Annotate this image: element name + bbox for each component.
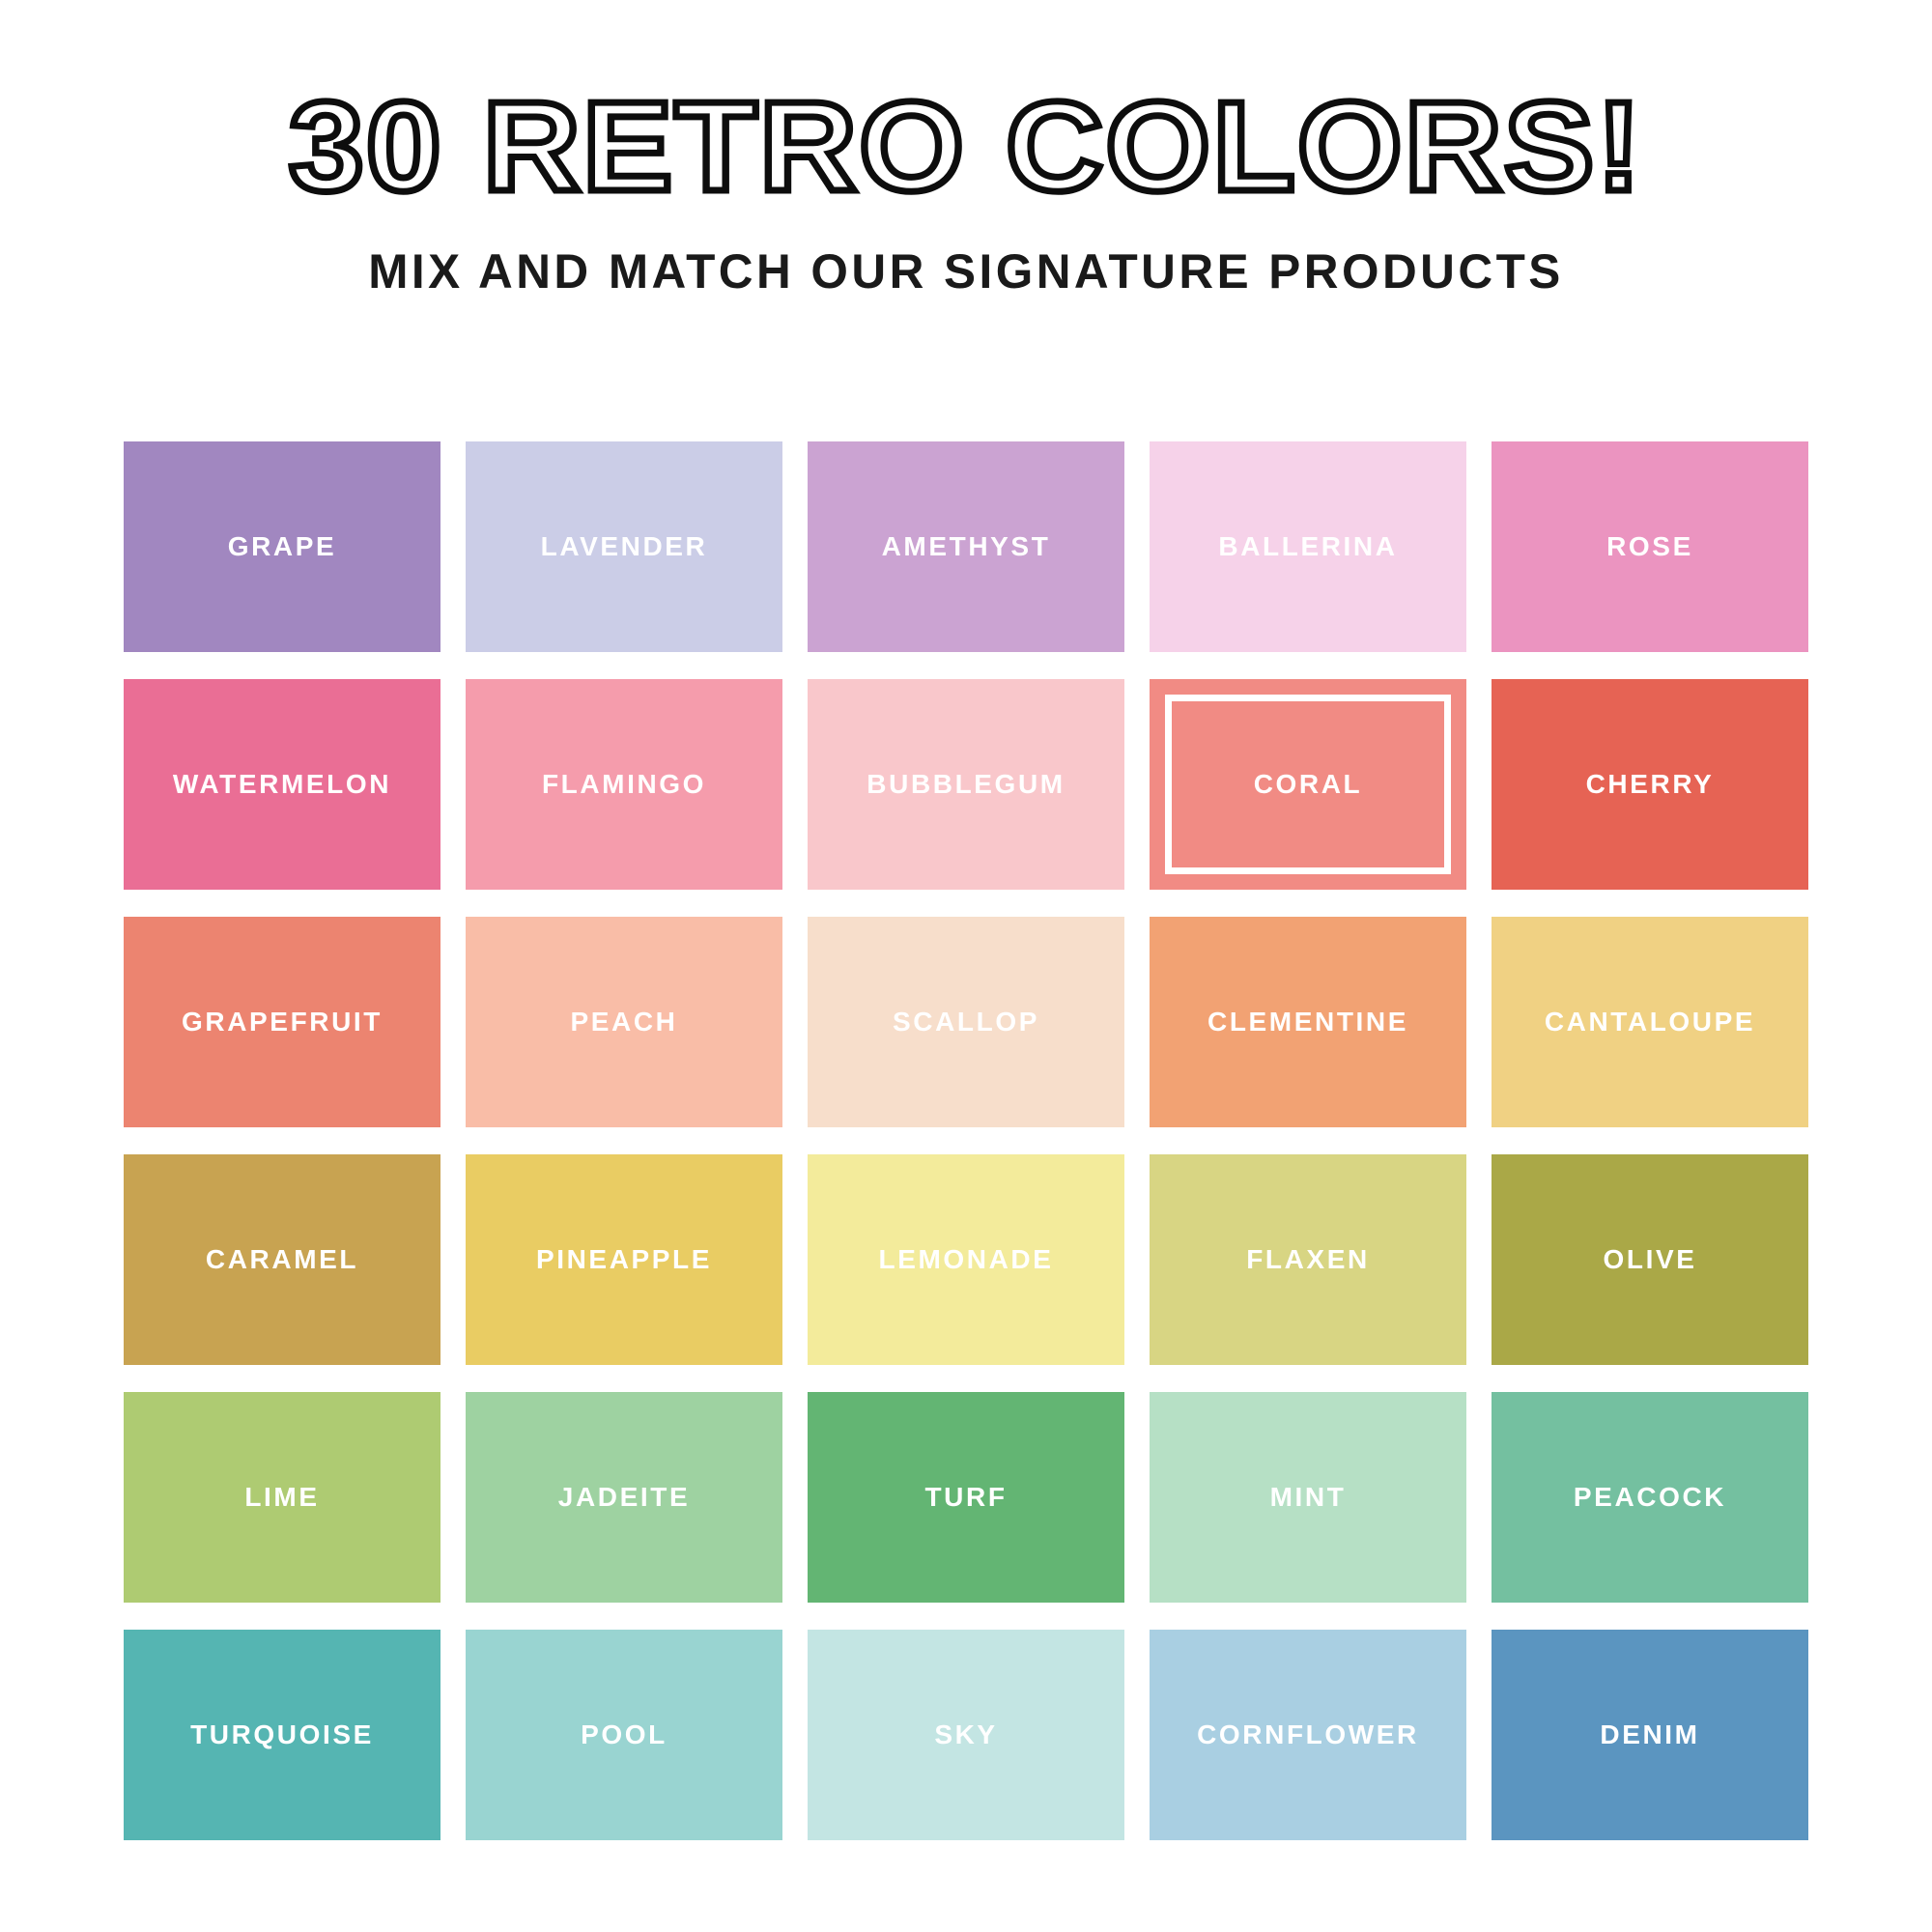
color-swatch-label: JADEITE <box>558 1482 690 1513</box>
color-swatch-grapefruit[interactable]: GRAPEFRUIT <box>124 917 440 1127</box>
color-swatch-label: DENIM <box>1600 1719 1699 1750</box>
color-swatch-label: SCALLOP <box>893 1007 1039 1037</box>
color-swatch-label: FLAMINGO <box>542 769 706 800</box>
color-swatch-peach[interactable]: PEACH <box>466 917 782 1127</box>
color-swatch-scallop[interactable]: SCALLOP <box>808 917 1124 1127</box>
color-swatch-label: GRAPE <box>228 531 337 562</box>
color-swatch-turf[interactable]: TURF <box>808 1392 1124 1603</box>
color-swatch-label: CORAL <box>1254 769 1363 800</box>
color-swatch-grape[interactable]: GRAPE <box>124 441 440 652</box>
color-swatch-watermelon[interactable]: WATERMELON <box>124 679 440 890</box>
color-swatch-label: BALLERINA <box>1218 531 1397 562</box>
color-swatch-label: LEMONADE <box>878 1244 1053 1275</box>
color-swatch-label: CORNFLOWER <box>1197 1719 1419 1750</box>
color-swatch-peacock[interactable]: PEACOCK <box>1492 1392 1808 1603</box>
page-header: 30 RETRO COLORS! MIX AND MATCH OUR SIGNA… <box>0 0 1932 299</box>
color-swatch-coral[interactable]: CORAL <box>1150 679 1466 890</box>
color-swatch-turquoise[interactable]: TURQUOISE <box>124 1630 440 1840</box>
color-swatch-label: AMETHYST <box>882 531 1051 562</box>
color-swatch-label: ROSE <box>1606 531 1693 562</box>
color-swatch-label: CHERRY <box>1586 769 1715 800</box>
color-swatch-label: POOL <box>581 1719 668 1750</box>
color-swatch-ballerina[interactable]: BALLERINA <box>1150 441 1466 652</box>
color-swatch-denim[interactable]: DENIM <box>1492 1630 1808 1840</box>
color-swatch-label: CARAMEL <box>206 1244 358 1275</box>
color-swatch-sky[interactable]: SKY <box>808 1630 1124 1840</box>
color-swatch-label: LIME <box>244 1482 319 1513</box>
color-swatch-label: PEACH <box>570 1007 677 1037</box>
color-swatch-lavender[interactable]: LAVENDER <box>466 441 782 652</box>
color-swatch-cherry[interactable]: CHERRY <box>1492 679 1808 890</box>
page-title: 30 RETRO COLORS! <box>0 83 1932 211</box>
color-swatch-jadeite[interactable]: JADEITE <box>466 1392 782 1603</box>
color-swatch-label: FLAXEN <box>1246 1244 1370 1275</box>
color-swatch-cornflower[interactable]: CORNFLOWER <box>1150 1630 1466 1840</box>
color-swatch-cantaloupe[interactable]: CANTALOUPE <box>1492 917 1808 1127</box>
color-swatch-olive[interactable]: OLIVE <box>1492 1154 1808 1365</box>
color-swatch-label: TURQUOISE <box>190 1719 374 1750</box>
color-swatch-mint[interactable]: MINT <box>1150 1392 1466 1603</box>
color-swatch-caramel[interactable]: CARAMEL <box>124 1154 440 1365</box>
color-swatch-label: MINT <box>1270 1482 1347 1513</box>
color-swatch-label: SKY <box>934 1719 997 1750</box>
color-swatch-label: GRAPEFRUIT <box>182 1007 383 1037</box>
color-swatch-label: LAVENDER <box>541 531 708 562</box>
color-swatch-flaxen[interactable]: FLAXEN <box>1150 1154 1466 1365</box>
color-swatch-lemonade[interactable]: LEMONADE <box>808 1154 1124 1365</box>
color-swatch-label: PEACOCK <box>1574 1482 1726 1513</box>
color-swatch-clementine[interactable]: CLEMENTINE <box>1150 917 1466 1127</box>
color-swatch-label: CANTALOUPE <box>1545 1007 1755 1037</box>
color-swatch-label: BUBBLEGUM <box>867 769 1065 800</box>
page-subtitle: MIX AND MATCH OUR SIGNATURE PRODUCTS <box>10 243 1922 299</box>
color-swatch-amethyst[interactable]: AMETHYST <box>808 441 1124 652</box>
color-palette-page: 30 RETRO COLORS! MIX AND MATCH OUR SIGNA… <box>0 0 1932 1932</box>
color-swatch-label: OLIVE <box>1603 1244 1696 1275</box>
color-swatch-label: TURF <box>924 1482 1007 1513</box>
color-swatch-pool[interactable]: POOL <box>466 1630 782 1840</box>
color-swatch-flamingo[interactable]: FLAMINGO <box>466 679 782 890</box>
color-swatch-pineapple[interactable]: PINEAPPLE <box>466 1154 782 1365</box>
color-swatch-grid: GRAPELAVENDERAMETHYSTBALLERINAROSEWATERM… <box>124 441 1808 1840</box>
color-swatch-label: CLEMENTINE <box>1207 1007 1408 1037</box>
color-swatch-rose[interactable]: ROSE <box>1492 441 1808 652</box>
color-swatch-label: WATERMELON <box>173 769 391 800</box>
color-swatch-bubblegum[interactable]: BUBBLEGUM <box>808 679 1124 890</box>
color-swatch-lime[interactable]: LIME <box>124 1392 440 1603</box>
color-swatch-label: PINEAPPLE <box>536 1244 712 1275</box>
